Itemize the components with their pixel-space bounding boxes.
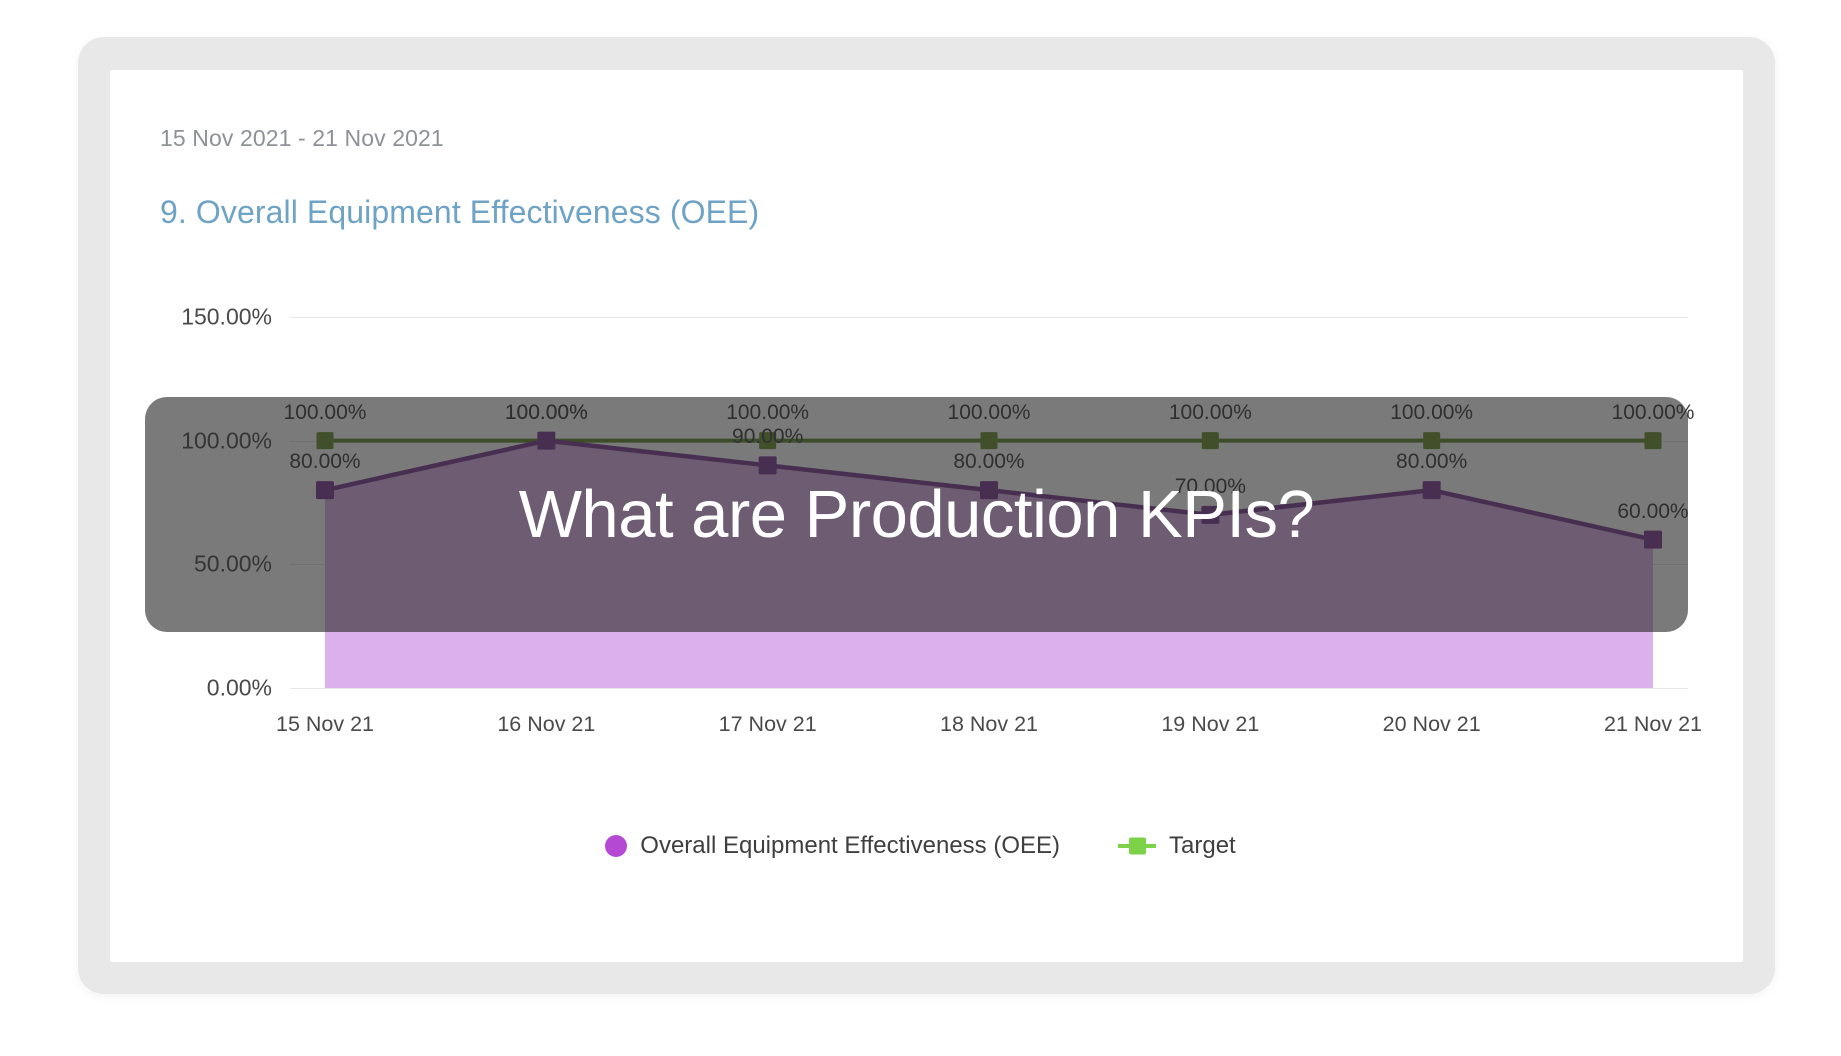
legend-square-marker	[1129, 838, 1146, 855]
legend-square-line-icon	[1118, 836, 1156, 856]
legend-item[interactable]: Overall Equipment Effectiveness (OEE)	[605, 832, 1060, 860]
legend-circle-icon	[605, 835, 627, 857]
legend-item[interactable]: Target	[1118, 832, 1236, 860]
legend-label: Overall Equipment Effectiveness (OEE)	[640, 832, 1060, 860]
legend-label: Target	[1169, 832, 1236, 860]
overlay-headline: What are Production KPIs?	[145, 397, 1688, 632]
